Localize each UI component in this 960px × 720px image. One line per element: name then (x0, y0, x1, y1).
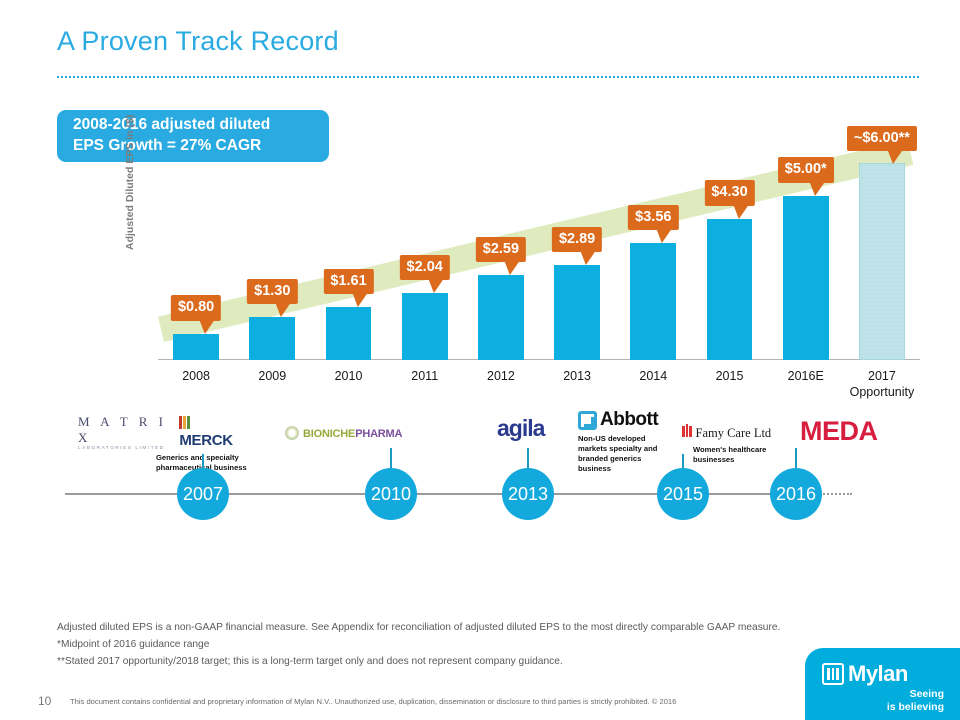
mylan-logo: Mylan Seeing is believing (805, 648, 960, 720)
bar-2014: $3.56 (630, 243, 676, 360)
data-label-2014: $3.56 (628, 205, 678, 231)
logo-agila: agila (497, 415, 544, 442)
logo-bioniche-pharma: BIONICHEPHARMA (285, 424, 402, 442)
footnote-line-2: *Midpoint of 2016 guidance range (57, 637, 837, 654)
footnote-line-1: Adjusted diluted EPS is a non-GAAP finan… (57, 620, 837, 637)
logo-meda: MEDA (800, 416, 878, 447)
confidentiality-notice: This document contains confidential and … (70, 697, 676, 706)
bar-2016E: $5.00* (783, 196, 829, 360)
mylan-tagline: Seeing is believing (887, 688, 944, 714)
merck-bars-icon (179, 414, 191, 432)
bar-slot: $2.89 (539, 150, 615, 360)
bar-slot: $1.61 (310, 150, 386, 360)
bioniche-wordmark-b: PHARMA (355, 428, 402, 440)
x-sublabel-2017: Opportunity (844, 385, 920, 401)
bioniche-wordmark-a: BIONICHE (303, 428, 355, 440)
bioniche-orb-icon (285, 426, 299, 440)
bar-slot: $4.30 (691, 150, 767, 360)
cagr-line-1: 2008-2016 adjusted diluted (73, 115, 329, 136)
data-label-2010: $1.61 (323, 269, 373, 295)
footnotes: Adjusted diluted EPS is a non-GAAP finan… (57, 620, 837, 670)
timeline-node-2007[interactable]: 2007 (177, 468, 229, 520)
timeline-node-2015[interactable]: 2015 (657, 468, 709, 520)
bar-slot: $2.59 (463, 150, 539, 360)
famy-wordmark: Famy Care Ltd (696, 426, 772, 440)
title-divider (57, 76, 919, 78)
bar-2010: $1.61 (326, 307, 372, 360)
timeline-node-2016[interactable]: 2016 (770, 468, 822, 520)
chart-plot-area: $0.80$1.30$1.61$2.04$2.59$2.89$3.56$4.30… (158, 150, 920, 360)
abbott-wordmark: Abbott (600, 409, 658, 430)
acquisition-timeline: 20072010201320152016 (60, 468, 900, 528)
data-label-2012: $2.59 (476, 237, 526, 263)
matrix-logo: M A T R I X LABORATORIES LIMITED (78, 414, 173, 450)
bar-series: $0.80$1.30$1.61$2.04$2.59$2.89$3.56$4.30… (158, 150, 920, 360)
y-axis-label: Adjusted Diluted EPS in ($) (124, 115, 136, 250)
logo-abbott: Abbott Non-US developed markets specialt… (578, 409, 683, 473)
matrix-wordmark: M A T R I X (78, 414, 173, 446)
data-label-2011: $2.04 (400, 255, 450, 281)
data-label-2009: $1.30 (247, 279, 297, 305)
bar-2011: $2.04 (402, 293, 448, 360)
bar-2009: $1.30 (249, 317, 295, 360)
logo-matrix-merck: M A T R I X LABORATORIES LIMITED MERCK G… (78, 414, 238, 473)
bar-2015: $4.30 (707, 219, 753, 360)
page-title: A Proven Track Record (57, 26, 339, 57)
mylan-logo-row: Mylan (822, 661, 908, 687)
meda-wordmark: MEDA (800, 416, 878, 446)
bar-slot: $3.56 (615, 150, 691, 360)
merck-logo: MERCK (179, 414, 238, 450)
data-label-2008: $0.80 (171, 295, 221, 321)
bar-slot: $1.30 (234, 150, 310, 360)
matrix-subtext: LABORATORIES LIMITED (78, 445, 173, 450)
bar-slot: $2.04 (387, 150, 463, 360)
data-label-2013: $2.89 (552, 227, 602, 253)
timeline-node-2013[interactable]: 2013 (502, 468, 554, 520)
bar-2008: $0.80 (173, 334, 219, 360)
abbott-mark-icon (578, 411, 597, 430)
bar-2013: $2.89 (554, 265, 600, 360)
page-number: 10 (38, 694, 51, 708)
bar-slot: $0.80 (158, 150, 234, 360)
famy-bars-icon (682, 424, 693, 442)
logo-famy-care: Famy Care Ltd Women's healthcare busines… (682, 424, 782, 465)
eps-bar-chart: Adjusted Diluted EPS in ($) $0.80$1.30$1… (130, 150, 920, 415)
data-label-2016E: $5.00* (778, 157, 834, 183)
agila-wordmark: agila (497, 415, 544, 441)
famy-caption: Women's healthcare businesses (693, 445, 785, 465)
bar-2017: ~$6.00** (859, 163, 905, 360)
acquisition-logos: M A T R I X LABORATORIES LIMITED MERCK G… (60, 406, 900, 468)
bar-slot: ~$6.00** (844, 150, 920, 360)
data-label-2015: $4.30 (704, 180, 754, 206)
data-label-2017: ~$6.00** (847, 126, 917, 152)
mylan-tagline-line-2: is believing (887, 701, 944, 714)
merck-wordmark: MERCK (179, 432, 233, 449)
bar-slot: $5.00* (768, 150, 844, 360)
mylan-mark-icon (822, 663, 844, 685)
timeline-node-2010[interactable]: 2010 (365, 468, 417, 520)
footnote-line-3: **Stated 2017 opportunity/2018 target; t… (57, 654, 837, 671)
bar-2012: $2.59 (478, 275, 524, 360)
mylan-wordmark: Mylan (848, 661, 908, 687)
mylan-tagline-line-1: Seeing (887, 688, 944, 701)
